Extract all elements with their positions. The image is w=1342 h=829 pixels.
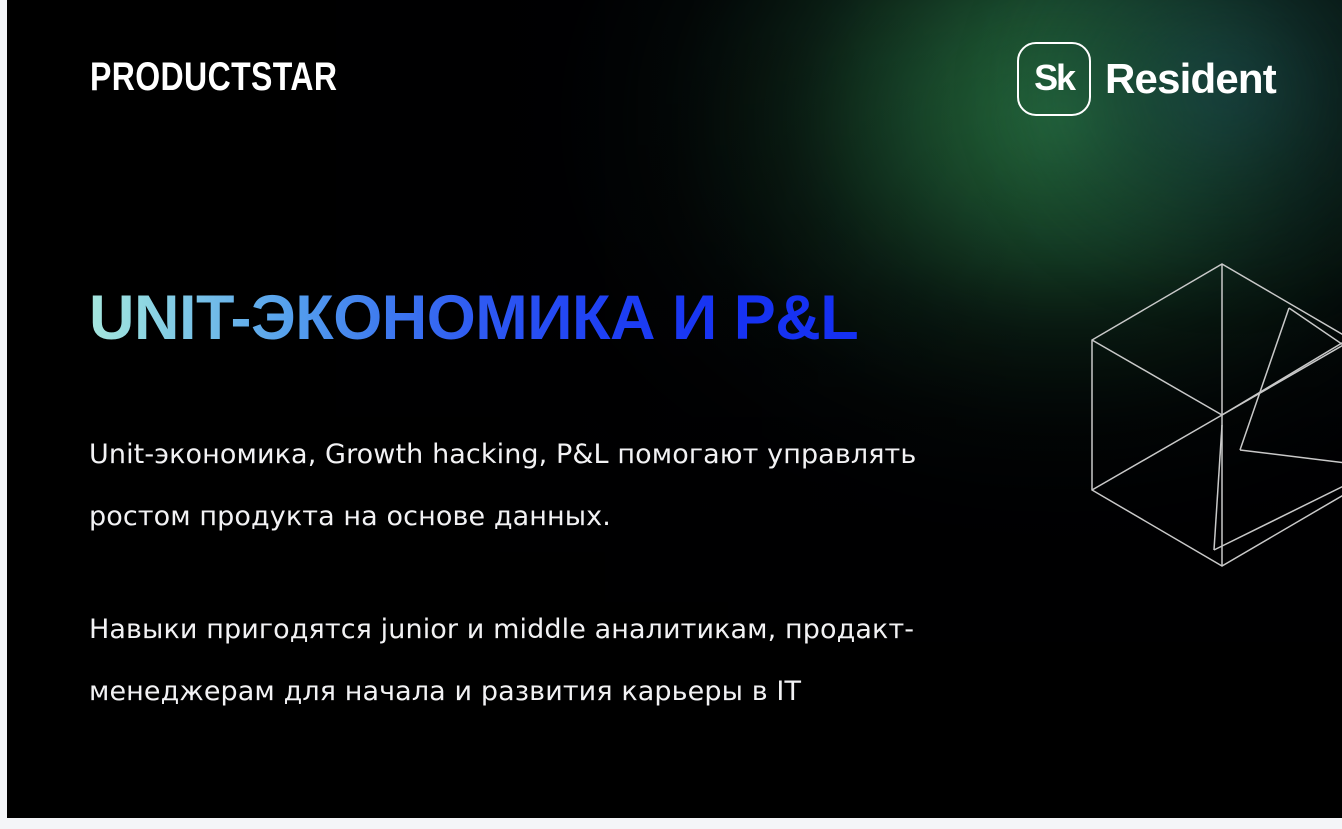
presentation-slide: PRODUCTSTAR Sk Resident UNIT-ЭКОНОМИКА И… [7, 0, 1342, 818]
sk-resident-label: Resident [1105, 58, 1276, 100]
paragraph-2: Навыки пригодятся junior и middle аналит… [89, 599, 1179, 723]
sk-mark-icon: Sk [1017, 42, 1091, 116]
productstar-logo: PRODUCTSTAR [90, 57, 337, 97]
paragraph-1: Unit-экономика, Growth hacking, P&L помо… [89, 424, 1179, 548]
paragraph-2-line-2: менеджерам для начала и развития карьеры… [89, 676, 801, 707]
paragraph-1-line-2: ростом продукта на основе данных. [89, 501, 611, 532]
page-canvas: PRODUCTSTAR Sk Resident UNIT-ЭКОНОМИКА И… [0, 0, 1342, 829]
body-copy: Unit-экономика, Growth hacking, P&L помо… [89, 424, 1179, 723]
paragraph-1-line-1: Unit-экономика, Growth hacking, P&L помо… [89, 439, 916, 470]
paragraph-2-line-1: Навыки пригодятся junior и middle аналит… [89, 614, 914, 645]
page-title: UNIT-ЭКОНОМИКА И P&L [89, 285, 858, 352]
sk-resident-badge: Sk Resident [1017, 42, 1276, 116]
sk-mark-label: Sk [1034, 60, 1074, 96]
